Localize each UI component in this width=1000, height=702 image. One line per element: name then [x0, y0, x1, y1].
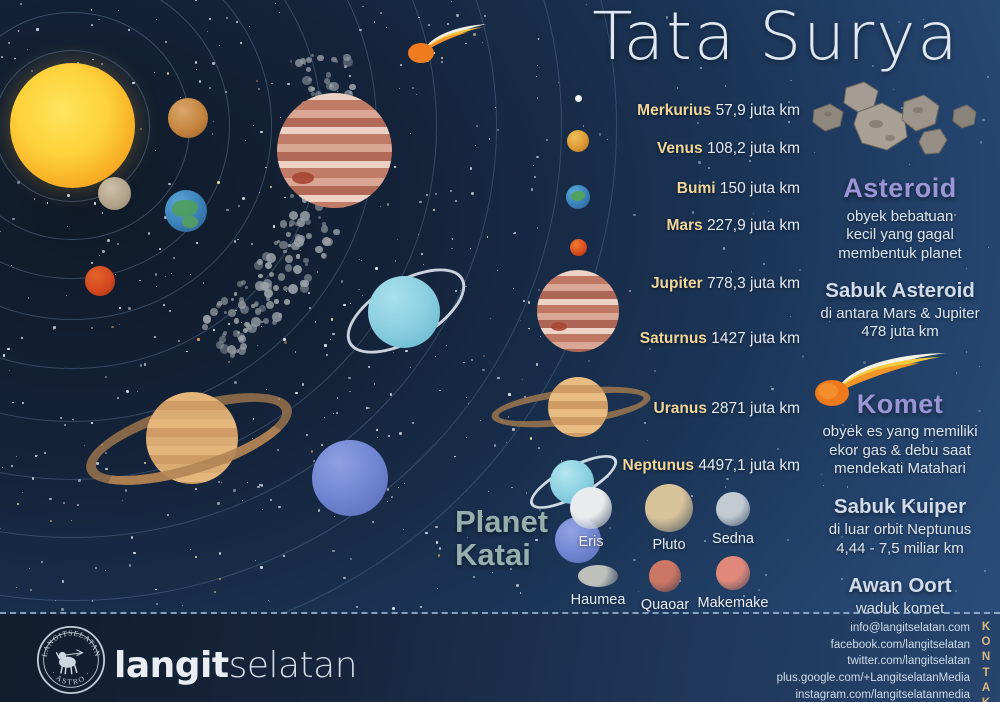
dwarf-planet-eris	[570, 487, 612, 529]
planet-distance-list: Merkurius 57,9 juta kmVenus 108,2 juta k…	[470, 80, 800, 490]
asteroid-cluster-icon	[806, 80, 996, 168]
page-title: Tata Surya	[566, 2, 986, 71]
planet-row: Jupiter 778,3 juta km	[651, 275, 800, 293]
planet-name: Uranus	[654, 400, 707, 417]
contact-line[interactable]: instagram.com/langitselatanmedia	[670, 687, 970, 702]
kontak-letter: K	[978, 696, 994, 702]
planet-name: Saturnus	[640, 330, 707, 347]
infographic-poster: Tata Surya Merkurius 57,9 juta kmVenus 1…	[0, 0, 1000, 702]
list-saturn-body	[548, 377, 608, 437]
scene-planet-mercury	[98, 177, 131, 210]
dwarf-planet-quaoar	[649, 560, 681, 592]
footer-divider	[0, 612, 1000, 614]
scene-planet-venus	[168, 98, 208, 138]
planet-distance: 778,3 juta km	[707, 275, 800, 292]
scene-planet-jupiter	[277, 93, 392, 208]
planet-row: Neptunus 4497,1 juta km	[623, 457, 800, 475]
sabuk-asteroid-description: di antara Mars & Jupiter478 juta km	[800, 305, 1000, 342]
brand-wordmark: langitselatan	[114, 645, 357, 686]
planet-distance: 227,9 juta km	[707, 217, 800, 234]
dwarf-planet-makemake	[716, 556, 750, 590]
planet-distance: 2871 juta km	[711, 400, 800, 417]
scene-uranus-body	[368, 276, 440, 348]
planet-name: Merkurius	[637, 102, 711, 119]
planet-name: Venus	[657, 140, 703, 157]
brand-bold: langit	[114, 645, 229, 686]
contact-line[interactable]: facebook.com/langitselatan	[670, 637, 970, 654]
kontak-letter: T	[978, 666, 994, 681]
planet-distance: 57,9 juta km	[716, 102, 800, 119]
dwarf-planet-label: Sedna	[688, 531, 778, 547]
sun-body	[10, 63, 135, 188]
asteroid-description: obyek bebatuankecil yang gagalmembentuk …	[800, 208, 1000, 263]
list-planet-saturn	[491, 368, 665, 446]
planet-row: Merkurius 57,9 juta km	[637, 102, 800, 120]
awan-oort-heading: Awan Oort	[800, 574, 1000, 598]
list-planet-venus	[567, 130, 589, 152]
planet-row: Bumi 150 juta km	[677, 180, 800, 198]
kontak-letter: A	[978, 681, 994, 696]
planet-name: Bumi	[677, 180, 716, 197]
scene-planet-neptune	[312, 440, 388, 516]
dwarf-planet-pluto	[645, 484, 693, 532]
dwarf-planet-haumea	[578, 565, 618, 587]
asteroid-heading: Asteroid	[800, 173, 1000, 204]
planet-row: Saturnus 1427 juta km	[640, 330, 800, 348]
kontak-label: KONTAK	[978, 620, 994, 702]
planet-name: Jupiter	[651, 275, 703, 292]
kontak-letter: N	[978, 650, 994, 665]
contact-line[interactable]: plus.google.com/+LangitselatanMedia	[670, 670, 970, 687]
dwarf-planet-sedna	[716, 492, 750, 526]
svg-text:LANGITSELATAN: LANGITSELATAN	[40, 628, 103, 657]
dwarf-planet-label: Eris	[546, 534, 636, 550]
scene-earth-landmass-2	[182, 216, 198, 228]
dwarf-planet-label: Makemake	[688, 595, 778, 611]
planet-name: Neptunus	[623, 457, 694, 474]
list-jupiter-red-spot	[551, 322, 567, 331]
scene-planet-saturn	[84, 374, 294, 504]
planet-distance: 108,2 juta km	[707, 140, 800, 157]
planet-distance: 4497,1 juta km	[698, 457, 800, 474]
langitselatan-logo-icon: LANGITSELATAN · ASTRO ·	[35, 624, 107, 696]
planet-distance: 1427 juta km	[711, 330, 800, 347]
scene-planet-mars	[85, 266, 115, 296]
list-planet-mars	[570, 239, 587, 256]
contact-line[interactable]: info@langitselatan.com	[670, 620, 970, 637]
sabuk-kuiper-description: di luar orbit Neptunus4,44 - 7,5 miliar …	[800, 521, 1000, 558]
kontak-letter: K	[978, 620, 994, 635]
scene-jupiter-great-red-spot	[292, 172, 314, 184]
planet-row: Mars 227,9 juta km	[666, 217, 800, 235]
sabuk-kuiper-heading: Sabuk Kuiper	[800, 495, 1000, 519]
sabuk-asteroid-heading: Sabuk Asteroid	[800, 279, 1000, 303]
contact-line[interactable]: twitter.com/langitselatan	[670, 653, 970, 670]
scene-comet-icon	[405, 18, 495, 63]
right-info-column: Asteroid obyek bebatuankecil yang gagalm…	[800, 80, 1000, 637]
contact-list: info@langitselatan.comfacebook.com/langi…	[670, 620, 970, 702]
comet-icon	[814, 351, 954, 407]
kontak-letter: O	[978, 635, 994, 650]
planet-name: Mars	[666, 217, 702, 234]
list-planet-mercury	[575, 95, 582, 102]
komet-description: obyek es yang memilikiekor gas & debu sa…	[800, 423, 1000, 478]
list-planet-jupiter	[537, 270, 619, 352]
brand-light: selatan	[229, 645, 357, 686]
scene-planet-uranus	[336, 258, 476, 368]
planet-distance: 150 juta km	[720, 180, 800, 197]
planet-row: Uranus 2871 juta km	[654, 400, 800, 418]
planet-row: Venus 108,2 juta km	[657, 140, 800, 158]
